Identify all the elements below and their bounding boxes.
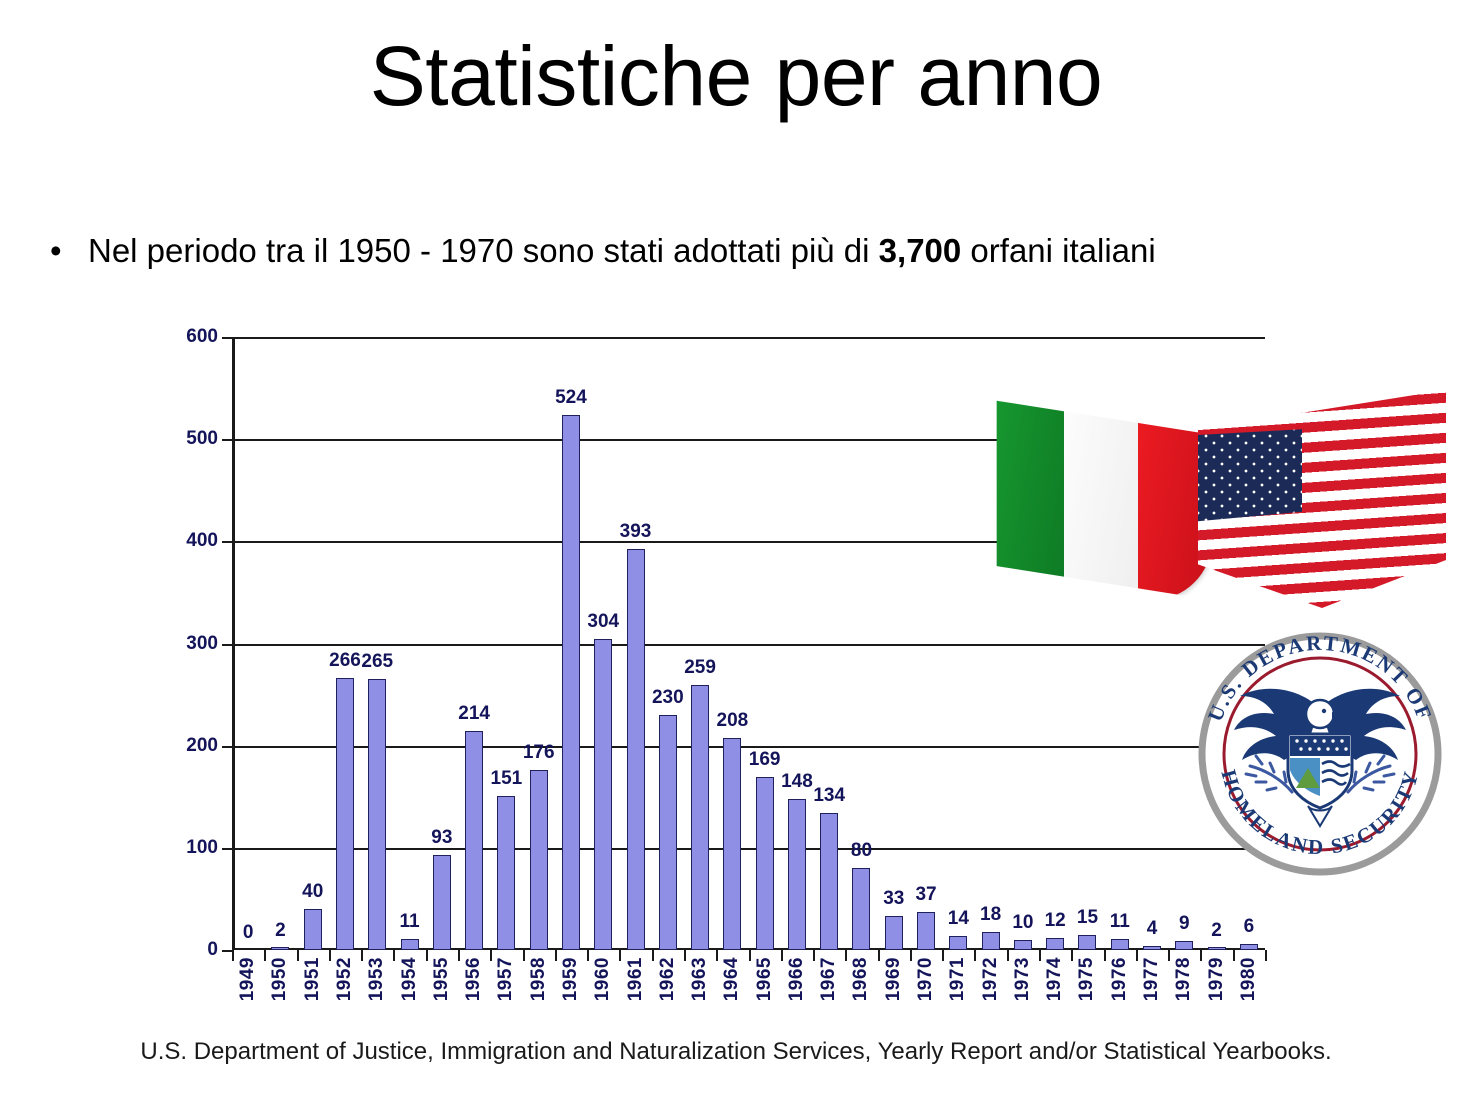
bar-1965[interactable] xyxy=(756,777,774,950)
bar-1950[interactable] xyxy=(271,947,289,950)
x-tick-label-1956: 1956 xyxy=(463,957,485,1001)
y-tick-label-0: 0 xyxy=(158,939,218,961)
bar-value-label-1972: 18 xyxy=(980,904,1001,926)
italy-flag-green-stripe xyxy=(990,388,1064,600)
x-tick-mark-1971 xyxy=(942,950,944,961)
italy-usa-flags-image xyxy=(980,378,1450,638)
dhs-seal-icon: U.S. DEPARTMENT OF HOMELAND SECURITY xyxy=(1196,630,1444,878)
bar-slot: 93 xyxy=(426,337,458,950)
x-tick-label-1960: 1960 xyxy=(592,957,614,1001)
bar-1951[interactable] xyxy=(304,909,322,950)
bar-1974[interactable] xyxy=(1046,938,1064,950)
bullet-marker: • xyxy=(42,228,88,274)
bar-slot: 37 xyxy=(910,337,942,950)
x-tick-label-1951: 1951 xyxy=(302,957,324,1001)
y-tick-label-300: 300 xyxy=(158,633,218,655)
y-tick-mark-100 xyxy=(222,848,232,850)
bar-value-label-1980: 6 xyxy=(1244,916,1255,938)
bar-1968[interactable] xyxy=(852,868,870,950)
x-tick-label-1958: 1958 xyxy=(528,957,550,1001)
bar-1973[interactable] xyxy=(1014,940,1032,950)
bar-value-label-1953: 265 xyxy=(361,651,393,673)
y-tick-label-600: 600 xyxy=(158,326,218,348)
y-tick-mark-300 xyxy=(222,644,232,646)
y-tick-label-500: 500 xyxy=(158,428,218,450)
bar-1966[interactable] xyxy=(788,799,806,950)
bar-slot: 14 xyxy=(942,337,974,950)
bar-value-label-1959: 524 xyxy=(555,387,587,409)
bar-value-label-1955: 93 xyxy=(431,827,452,849)
x-tick-label-1962: 1962 xyxy=(657,957,679,1001)
x-tick-mark-1954 xyxy=(393,950,395,961)
x-tick-label-1977: 1977 xyxy=(1141,957,1163,1001)
x-tick-label-1965: 1965 xyxy=(754,957,776,1001)
bar-value-label-1950: 2 xyxy=(275,920,286,942)
x-tick-mark-1980 xyxy=(1233,950,1235,961)
y-tick-label-100: 100 xyxy=(158,837,218,859)
x-tick-label-1952: 1952 xyxy=(334,957,356,1001)
bar-1975[interactable] xyxy=(1078,935,1096,950)
x-tick-mark-1977 xyxy=(1136,950,1138,961)
bar-value-label-1968: 80 xyxy=(851,840,872,862)
bar-slot: 148 xyxy=(781,337,813,950)
bar-value-label-1969: 33 xyxy=(883,888,904,910)
bar-1963[interactable] xyxy=(691,685,709,950)
y-tick-mark-500 xyxy=(222,439,232,441)
bar-slot: 214 xyxy=(458,337,490,950)
x-tick-mark-1956 xyxy=(458,950,460,961)
bar-value-label-1956: 214 xyxy=(458,703,490,725)
x-tick-mark-1974 xyxy=(1039,950,1041,961)
bar-1978[interactable] xyxy=(1175,941,1193,950)
x-tick-mark-1979 xyxy=(1200,950,1202,961)
bar-slot: 393 xyxy=(619,337,651,950)
x-tick-mark-1950 xyxy=(264,950,266,961)
x-tick-mark-1957 xyxy=(490,950,492,961)
x-tick-label-1964: 1964 xyxy=(721,957,743,1001)
x-tick-label-1949: 1949 xyxy=(237,957,259,1001)
italy-flag-icon xyxy=(990,388,1212,600)
x-tick-mark-1960 xyxy=(587,950,589,961)
x-tick-mark-1955 xyxy=(426,950,428,961)
x-tick-label-1968: 1968 xyxy=(850,957,872,1001)
bar-value-label-1960: 304 xyxy=(587,611,619,633)
bar-1955[interactable] xyxy=(433,855,451,950)
x-tick-mark-1959 xyxy=(555,950,557,961)
y-tick-mark-0 xyxy=(222,950,232,952)
bar-1956[interactable] xyxy=(465,731,483,950)
x-tick-label-1973: 1973 xyxy=(1012,957,1034,1001)
x-tick-label-1970: 1970 xyxy=(915,957,937,1001)
bar-1952[interactable] xyxy=(336,678,354,950)
y-tick-mark-400 xyxy=(222,541,232,543)
bar-value-label-1978: 9 xyxy=(1179,913,1190,935)
bar-1961[interactable] xyxy=(627,549,645,951)
bullet-text: Nel periodo tra il 1950 - 1970 sono stat… xyxy=(88,228,1156,274)
x-tick-label-1955: 1955 xyxy=(431,957,453,1001)
usa-flag-canton xyxy=(1198,429,1302,525)
bar-value-label-1957: 151 xyxy=(491,768,523,790)
bar-slot: 266 xyxy=(329,337,361,950)
x-tick-label-1979: 1979 xyxy=(1206,957,1228,1001)
bar-value-label-1962: 230 xyxy=(652,687,684,709)
dhs-seal-image: U.S. DEPARTMENT OF HOMELAND SECURITY xyxy=(1196,630,1444,878)
bar-slot: 40 xyxy=(297,337,329,950)
bar-slot: 134 xyxy=(813,337,845,950)
x-tick-mark-1967 xyxy=(813,950,815,961)
x-tick-mark-1969 xyxy=(878,950,880,961)
x-tick-label-1959: 1959 xyxy=(560,957,582,1001)
bar-value-label-1979: 2 xyxy=(1211,920,1222,942)
bar-slot: 259 xyxy=(684,337,716,950)
x-tick-mark-1970 xyxy=(910,950,912,961)
bar-value-label-1966: 148 xyxy=(781,771,813,793)
x-tick-mark-1958 xyxy=(523,950,525,961)
x-tick-mark-end xyxy=(1265,950,1267,961)
x-tick-label-1961: 1961 xyxy=(625,957,647,1001)
x-tick-mark-1962 xyxy=(652,950,654,961)
bar-1977[interactable] xyxy=(1143,946,1161,950)
bar-value-label-1958: 176 xyxy=(523,742,555,764)
bar-slot: 208 xyxy=(716,337,748,950)
x-tick-label-1950: 1950 xyxy=(269,957,291,1001)
bar-slot: 151 xyxy=(490,337,522,950)
x-tick-label-1971: 1971 xyxy=(947,957,969,1001)
x-tick-mark-1949 xyxy=(232,950,234,961)
bar-value-label-1976: 11 xyxy=(1110,911,1130,933)
bar-1964[interactable] xyxy=(723,738,741,951)
x-tick-mark-1968 xyxy=(845,950,847,961)
x-tick-mark-1964 xyxy=(716,950,718,961)
bullet-row: • Nel periodo tra il 1950 - 1970 sono st… xyxy=(42,228,1462,274)
y-tick-label-400: 400 xyxy=(158,530,218,552)
bar-value-label-1954: 11 xyxy=(400,911,420,933)
bar-1958[interactable] xyxy=(530,770,548,950)
x-tick-mark-1952 xyxy=(329,950,331,961)
bar-value-label-1975: 15 xyxy=(1077,907,1098,929)
x-tick-mark-1978 xyxy=(1168,950,1170,961)
x-tick-label-1975: 1975 xyxy=(1076,957,1098,1001)
bullet-text-after: orfani italiani xyxy=(961,232,1155,269)
bar-1953[interactable] xyxy=(368,679,386,950)
bullet-text-bold-number: 3,700 xyxy=(879,232,962,269)
bar-slot: 524 xyxy=(555,337,587,950)
y-tick-mark-600 xyxy=(222,337,232,339)
bar-1979[interactable] xyxy=(1208,947,1226,950)
usa-flag-icon xyxy=(1198,390,1446,608)
source-footer: U.S. Department of Justice, Immigration … xyxy=(0,1036,1472,1068)
x-tick-label-1974: 1974 xyxy=(1044,957,1066,1001)
bar-1967[interactable] xyxy=(820,813,838,950)
x-tick-label-1957: 1957 xyxy=(495,957,517,1001)
x-tick-label-1967: 1967 xyxy=(818,957,840,1001)
bar-slot: 304 xyxy=(587,337,619,950)
bar-value-label-1963: 259 xyxy=(684,657,716,679)
x-tick-label-1976: 1976 xyxy=(1109,957,1131,1001)
x-tick-label-1953: 1953 xyxy=(366,957,388,1001)
page-title: Statistiche per anno xyxy=(0,28,1472,124)
bar-slot: 176 xyxy=(523,337,555,950)
bar-value-label-1977: 4 xyxy=(1147,918,1158,940)
bar-1957[interactable] xyxy=(497,796,515,950)
bar-value-label-1964: 208 xyxy=(717,710,749,732)
x-tick-mark-1976 xyxy=(1104,950,1106,961)
x-tick-mark-1972 xyxy=(974,950,976,961)
slide: Statistiche per anno • Nel periodo tra i… xyxy=(0,0,1472,1096)
bar-value-label-1965: 169 xyxy=(749,749,781,771)
bar-slot: 11 xyxy=(393,337,425,950)
bar-1954[interactable] xyxy=(401,939,419,950)
x-tick-mark-1973 xyxy=(1007,950,1009,961)
bar-slot: 80 xyxy=(845,337,877,950)
x-tick-label-1954: 1954 xyxy=(399,957,421,1001)
x-tick-label-1978: 1978 xyxy=(1173,957,1195,1001)
bar-1971[interactable] xyxy=(949,936,967,950)
x-tick-mark-1975 xyxy=(1071,950,1073,961)
y-tick-label-200: 200 xyxy=(158,735,218,757)
bar-1976[interactable] xyxy=(1111,939,1129,950)
italy-flag-white-stripe xyxy=(1064,388,1138,600)
x-tick-label-1963: 1963 xyxy=(689,957,711,1001)
bar-1962[interactable] xyxy=(659,715,677,950)
bar-1972[interactable] xyxy=(982,932,1000,950)
bar-value-label-1973: 10 xyxy=(1012,912,1033,934)
bar-slot: 33 xyxy=(878,337,910,950)
x-tick-mark-1963 xyxy=(684,950,686,961)
x-tick-mark-1951 xyxy=(297,950,299,961)
bar-1960[interactable] xyxy=(594,639,612,950)
x-tick-mark-1966 xyxy=(781,950,783,961)
bar-slot: 169 xyxy=(749,337,781,950)
bar-slot: 265 xyxy=(361,337,393,950)
bar-value-label-1951: 40 xyxy=(302,881,323,903)
bar-value-label-1970: 37 xyxy=(915,884,936,906)
x-tick-label-1972: 1972 xyxy=(980,957,1002,1001)
x-tick-label-1969: 1969 xyxy=(883,957,905,1001)
y-tick-mark-200 xyxy=(222,746,232,748)
x-tick-mark-1953 xyxy=(361,950,363,961)
bar-value-label-1971: 14 xyxy=(948,908,969,930)
bar-1970[interactable] xyxy=(917,912,935,950)
bar-value-label-1961: 393 xyxy=(620,521,652,543)
bar-1980[interactable] xyxy=(1240,944,1258,950)
bar-slot: 2 xyxy=(264,337,296,950)
bar-1969[interactable] xyxy=(885,916,903,950)
x-tick-mark-1965 xyxy=(749,950,751,961)
bar-slot: 230 xyxy=(652,337,684,950)
x-tick-label-1980: 1980 xyxy=(1238,957,1260,1001)
bullet-text-before: Nel periodo tra il 1950 - 1970 sono stat… xyxy=(88,232,879,269)
bar-value-label-1949: 0 xyxy=(243,922,254,944)
bar-value-label-1974: 12 xyxy=(1045,910,1066,932)
bar-value-label-1967: 134 xyxy=(813,785,845,807)
x-tick-label-1966: 1966 xyxy=(786,957,808,1001)
bar-value-label-1952: 266 xyxy=(329,650,361,672)
bar-1959[interactable] xyxy=(562,415,580,950)
x-tick-mark-1961 xyxy=(619,950,621,961)
bar-slot: 0 xyxy=(232,337,264,950)
